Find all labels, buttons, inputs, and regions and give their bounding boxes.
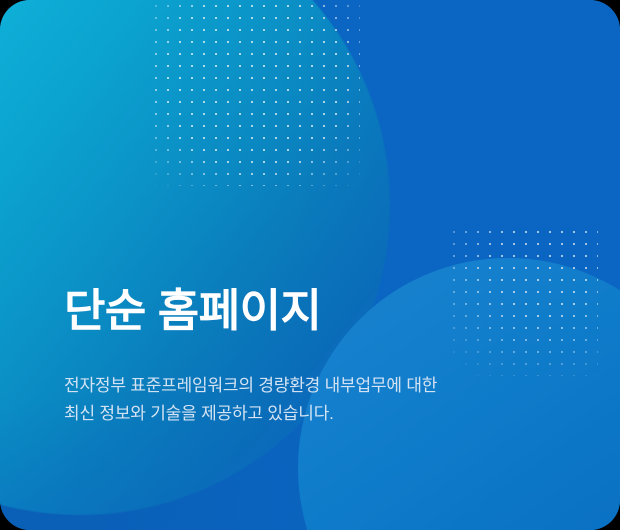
hero-subtitle-line-1: 전자정부 표준프레임워크의 경량환경 내부업무에 대한 — [64, 372, 564, 400]
page-title: 단순 홈페이지 — [64, 286, 580, 336]
hero-subtitle: 전자정부 표준프레임워크의 경량환경 내부업무에 대한 최신 정보와 기술을 제… — [64, 336, 564, 428]
hero-copy: 단순 홈페이지 전자정부 표준프레임워크의 경량환경 내부업무에 대한 최신 정… — [64, 286, 580, 428]
hero-banner: 단순 홈페이지 전자정부 표준프레임워크의 경량환경 내부업무에 대한 최신 정… — [0, 0, 620, 530]
hero-subtitle-line-2: 최신 정보와 기술을 제공하고 있습니다. — [64, 400, 564, 428]
